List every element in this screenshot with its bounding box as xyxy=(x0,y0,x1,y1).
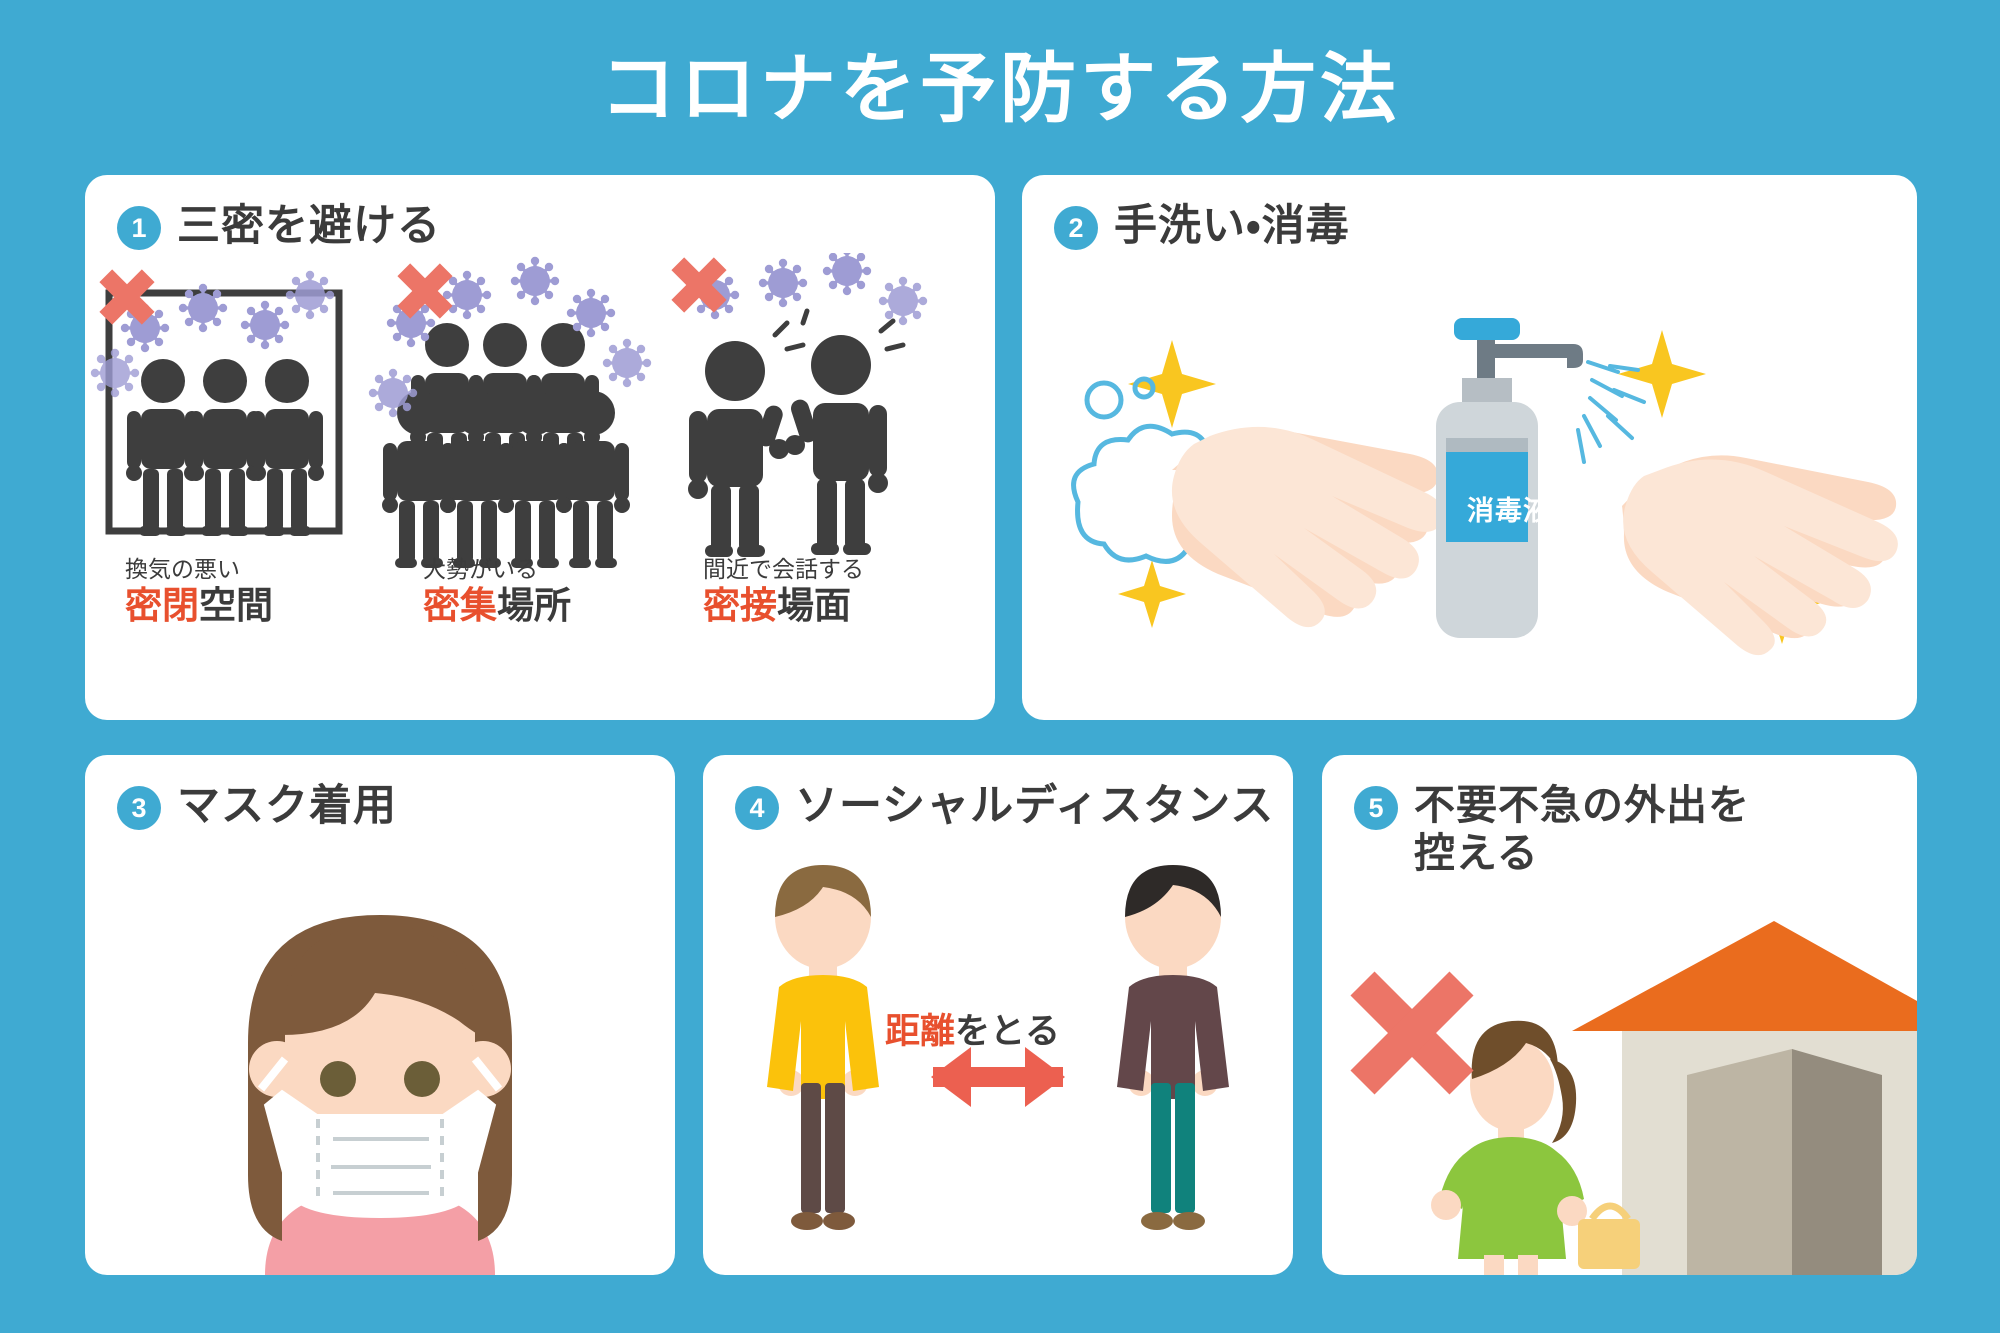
double-arrow-icon xyxy=(931,1047,1065,1107)
card2-title: 手洗い・消毒 xyxy=(1114,201,1350,252)
caption2-rest: 場所 xyxy=(497,585,571,626)
girl-going-out xyxy=(1431,1021,1640,1275)
card5-header: 5 不要不急の外出を 控える xyxy=(1322,755,1917,878)
virus-icon xyxy=(879,277,927,325)
person-right xyxy=(1117,865,1229,1230)
distance-rest: をとる xyxy=(955,1012,1060,1051)
caption1-main: 密閉空間 xyxy=(125,585,425,626)
card-avoid-three-c: 1 三密を避ける xyxy=(85,175,995,720)
virus-icon xyxy=(511,257,559,305)
card4-title: ソーシャルディスタンス xyxy=(795,781,1274,832)
distance-label: 距離をとる xyxy=(885,1003,1060,1054)
card3-number-badge: 3 xyxy=(117,786,161,830)
caption3-highlight: 密接 xyxy=(703,585,777,626)
card1-title: 三密を避ける xyxy=(177,201,441,252)
sparkle-icon xyxy=(1128,340,1216,428)
caption1-highlight: 密閉 xyxy=(125,585,199,626)
caption1-rest: 空間 xyxy=(199,585,273,626)
card4-number-badge: 4 xyxy=(735,786,779,830)
virus-icon xyxy=(759,259,807,307)
washing-hands-illustration xyxy=(1172,427,1444,627)
masked-woman-illustration xyxy=(85,847,675,1275)
virus-icon xyxy=(286,271,334,319)
virus-icon xyxy=(179,284,227,332)
sparkle-icon xyxy=(1618,330,1706,418)
page-title: コロナを予防する方法 xyxy=(0,48,2000,132)
close-contact-scene xyxy=(671,253,927,557)
virus-icon xyxy=(369,369,417,417)
card2-header: 2 手洗い・消毒 xyxy=(1022,175,1917,252)
card2-illustration xyxy=(1022,270,1917,700)
card1-caption-1: 換気の悪い 密閉空間 xyxy=(125,557,425,627)
card5-title: 不要不急の外出を 控える xyxy=(1414,781,1750,878)
stay-home-illustration xyxy=(1322,903,1917,1275)
card2-number-badge: 2 xyxy=(1054,206,1098,250)
caption3-rest: 場面 xyxy=(777,585,851,626)
card3-title: マスク着用 xyxy=(177,781,397,832)
caption3-sub: 間近で会話する xyxy=(703,557,995,582)
card5-number-badge: 5 xyxy=(1354,786,1398,830)
card4-illustration xyxy=(703,855,1293,1275)
sparkle-icon xyxy=(1118,560,1186,628)
virus-icon xyxy=(823,253,871,295)
virus-icon xyxy=(567,289,615,337)
sanitizer-bottle xyxy=(1436,318,1644,638)
card-stay-home: 5 不要不急の外出を 控える xyxy=(1322,755,1917,1275)
card1-caption-2: 大勢がいる 密集場所 xyxy=(423,557,723,627)
poster-root: コロナを予防する方法 1 三密を避ける xyxy=(0,0,2000,1333)
person-left xyxy=(767,865,879,1230)
card1-caption-3: 間近で会話する 密接場面 xyxy=(703,557,995,627)
card4-header: 4 ソーシャルディスタンス xyxy=(703,755,1293,832)
card5-illustration xyxy=(1322,903,1917,1275)
virus-icon xyxy=(91,349,139,397)
card3-illustration xyxy=(85,847,675,1275)
two-people-distance-illustration xyxy=(703,855,1293,1275)
caption3-main: 密接場面 xyxy=(703,585,995,626)
card-handwash-sanitize: 2 手洗い・消毒 xyxy=(1022,175,1917,720)
eye-left xyxy=(320,1061,356,1097)
caption2-highlight: 密集 xyxy=(423,585,497,626)
card-wear-mask: 3 マスク着用 xyxy=(85,755,675,1275)
caption1-sub: 換気の悪い xyxy=(125,557,425,582)
card3-header: 3 マスク着用 xyxy=(85,755,675,832)
closed-space-scene xyxy=(91,269,339,536)
crowded-place-scene xyxy=(369,257,651,568)
sanitizing-hands-illustration xyxy=(1622,455,1898,655)
card1-number-badge: 1 xyxy=(117,206,161,250)
caption2-sub: 大勢がいる xyxy=(423,557,723,582)
eye-right xyxy=(404,1061,440,1097)
distance-highlight: 距離 xyxy=(885,1012,955,1051)
sanitizer-bottle-label: 消毒液 xyxy=(1467,489,1551,528)
caption2-main: 密集場所 xyxy=(423,585,723,626)
virus-icon xyxy=(241,301,289,349)
cross-mark-icon xyxy=(1350,971,1473,1094)
virus-icon xyxy=(603,339,651,387)
card-social-distance: 4 ソーシャルディスタンス xyxy=(703,755,1293,1275)
card1-header: 1 三密を避ける xyxy=(85,175,995,252)
